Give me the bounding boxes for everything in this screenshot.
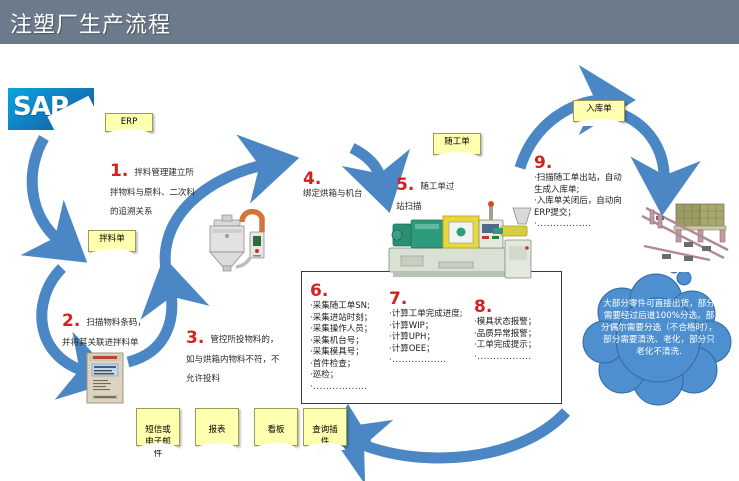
step-8-list: 模具状态报警； 品质异常报警； 工单完成提示； ................…	[474, 317, 536, 363]
step-7-item: 计算工单完成进度;	[389, 309, 463, 321]
step-7: 7. 计算工单完成进度; 计算WIP； 计算UPH； 计算OEE； ......…	[389, 290, 463, 367]
step-7-item: 计算WIP；	[389, 321, 463, 333]
step-6-item: 巡检；	[310, 370, 372, 382]
step-6-item: 首件检查；	[310, 359, 372, 371]
material-bag-icon	[86, 352, 124, 404]
step-9-item: 入库单关闭后，自动向ERP提交；	[534, 196, 626, 219]
step-1-number: 1.	[110, 164, 128, 179]
step-7-item: 计算UPH；	[389, 332, 463, 344]
step-9-number: 9.	[534, 154, 626, 172]
sap-logo-text: SAP	[13, 92, 68, 122]
curved-arrow-icon	[348, 430, 352, 452]
step-7-list: 计算工单完成进度; 计算WIP； 计算UPH； 计算OEE； .........…	[389, 309, 463, 367]
curved-arrow-icon	[356, 412, 566, 458]
step-5-number: 5.	[396, 178, 414, 193]
note-travel-order[interactable]: 随工单	[433, 133, 481, 155]
step-1: 1. 拌料管理建立所拌物料与原料、二次料的追溯关系	[110, 160, 198, 219]
registered-mark-icon: ®	[78, 121, 84, 128]
dryer-machine-icon	[196, 196, 278, 274]
curved-arrow-icon	[32, 138, 62, 243]
step-9: 9. 扫描随工单出站，自动生成入库单; 入库单关闭后，自动向ERP提交； ...…	[534, 154, 626, 231]
step-9-item: .................	[534, 219, 626, 231]
cloud-text: 大部分零件可直接出货，部分需要经过后道100%分选，部分偶尔需要分选（不合格时）…	[600, 298, 718, 358]
step-9-list: 扫描随工单出站，自动生成入库单; 入库单关闭后，自动向ERP提交； ......…	[534, 173, 626, 231]
step-6: 6. 采集随工单SN; 采集进站时刻； 采集操作人员； 采集机台号； 采集模具号…	[310, 282, 372, 393]
step-8-item: 工单完成提示；	[474, 340, 536, 352]
warehouse-rack-icon	[640, 198, 735, 264]
note-output-sms-email[interactable]: 短信或 电子邮 件	[136, 408, 180, 446]
step-9-item: 扫描随工单出站，自动生成入库单;	[534, 173, 626, 196]
step-8: 8. 模具状态报警； 品质异常报警； 工单完成提示； .............…	[474, 298, 536, 363]
step-6-item: 采集进站时刻；	[310, 313, 372, 325]
step-6-item: 采集模具号；	[310, 347, 372, 359]
injection-molding-machine-icon	[381, 196, 546, 281]
step-6-item: 采集随工单SN;	[310, 301, 372, 313]
note-output-report[interactable]: 报表	[195, 408, 239, 446]
step-7-number: 7.	[389, 290, 463, 308]
slide-canvas: 注塑厂生产流程 SAP ® ERP	[0, 0, 739, 481]
step-3-number: 3.	[186, 331, 204, 346]
step-8-item: 品质异常报警；	[474, 329, 536, 341]
step-8-number: 8.	[474, 298, 536, 316]
step-2-number: 2.	[62, 314, 80, 329]
step-6-item: .................	[310, 382, 372, 394]
step-6-number: 6.	[310, 282, 372, 300]
collection-panel: 6. 采集随工单SN; 采集进站时刻； 采集操作人员； 采集机台号； 采集模具号…	[301, 271, 562, 404]
step-7-item: .................	[389, 355, 463, 367]
step-8-item: 模具状态报警；	[474, 317, 536, 329]
step-6-item: 采集操作人员；	[310, 324, 372, 336]
note-erp[interactable]: ERP	[105, 113, 153, 132]
note-receipt-order[interactable]: 入库单	[573, 100, 625, 122]
sap-logo: SAP ®	[8, 88, 94, 130]
note-output-query-plugin[interactable]: 查询插 件	[303, 408, 347, 446]
note-mix-order[interactable]: 拌料单	[88, 230, 136, 252]
step-6-item: 采集机台号；	[310, 336, 372, 348]
step-4-number: 4.	[303, 172, 402, 187]
step-2: 2. 扫描物料条码，并将其关联进拌料单	[62, 310, 154, 349]
step-3: 3. 管控所投物料的，如与烘箱内物料不符，不允许投料	[186, 327, 282, 386]
step-7-item: 计算OEE；	[389, 344, 463, 356]
step-8-item: .................	[474, 352, 536, 364]
step-6-list: 采集随工单SN; 采集进站时刻； 采集操作人员； 采集机台号； 采集模具号； 首…	[310, 301, 372, 393]
note-output-kanban[interactable]: 看板	[254, 408, 298, 446]
